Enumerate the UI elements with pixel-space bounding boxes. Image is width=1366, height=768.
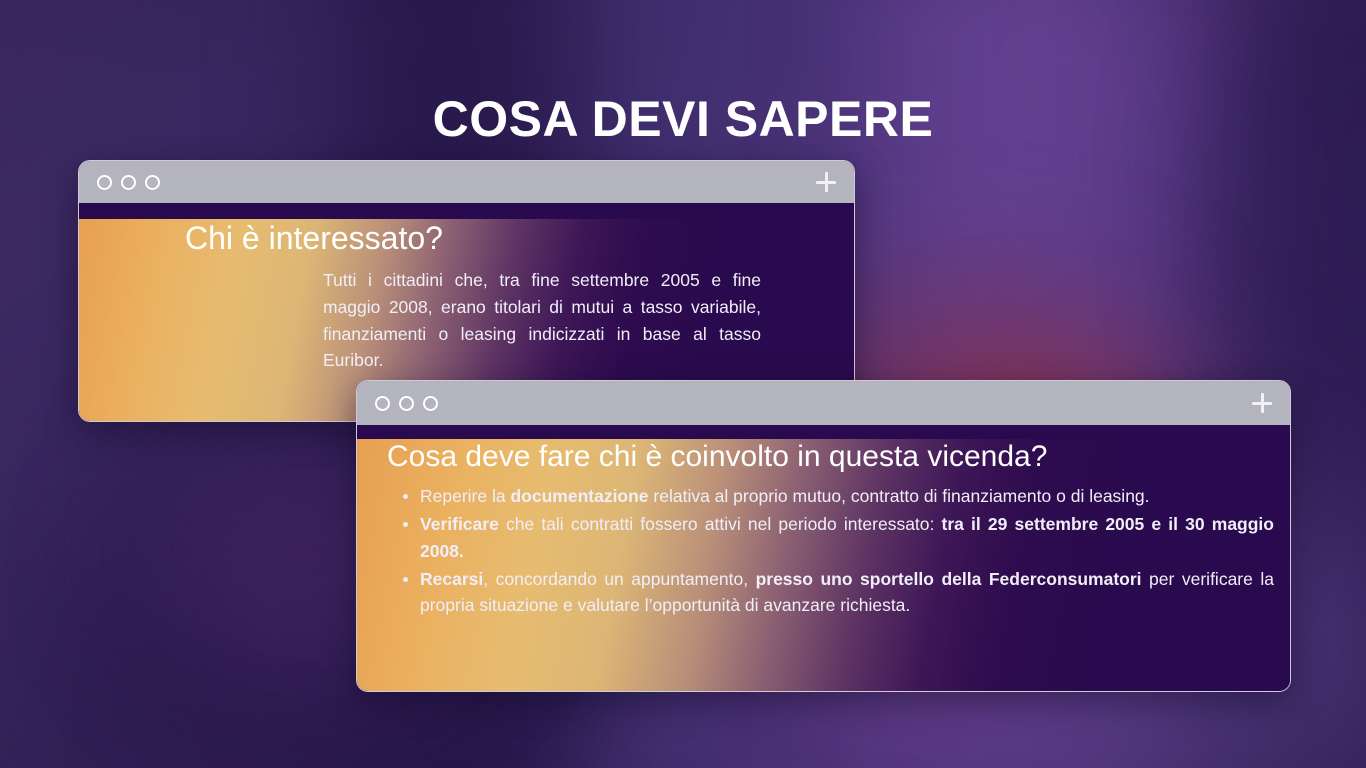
page-title: COSA DEVI SAPERE: [0, 92, 1366, 147]
list-item-text: che tali contratti fossero attivi nel pe…: [499, 514, 942, 534]
card-one-window-dots: [97, 175, 160, 190]
card-two-heading: Cosa deve fare chi è coinvolto in questa…: [387, 439, 1290, 475]
card-two-window-dots: [375, 396, 438, 411]
maximize-dot-icon[interactable]: [423, 396, 438, 411]
list-item-text: Reperire la: [420, 486, 510, 506]
card-two-body: Cosa deve fare chi è coinvolto in questa…: [357, 439, 1290, 692]
slide-canvas: COSA DEVI SAPERE Chi è interessato? Tutt…: [0, 0, 1366, 768]
minimize-dot-icon[interactable]: [399, 396, 414, 411]
card-one-heading: Chi è interessato?: [185, 219, 854, 257]
close-dot-icon[interactable]: [97, 175, 112, 190]
list-item-text: relativa al proprio mutuo, contratto di …: [649, 486, 1150, 506]
list-item: Reperire la documentazione relativa al p…: [403, 483, 1274, 509]
minimize-dot-icon[interactable]: [121, 175, 136, 190]
plus-icon[interactable]: [1252, 393, 1272, 413]
card-two-titlebar: [357, 381, 1290, 425]
close-dot-icon[interactable]: [375, 396, 390, 411]
card-one-content: Chi è interessato? Tutti i cittadini che…: [79, 219, 854, 374]
list-item-text: , concordando un appuntamento,: [483, 569, 755, 589]
card-one-titlebar: [79, 161, 854, 203]
card-two-bullet-list: Reperire la documentazione relativa al p…: [403, 483, 1274, 618]
list-item: Verificare che tali contratti fossero at…: [403, 511, 1274, 564]
card-one-paragraph: Tutti i cittadini che, tra fine settembr…: [323, 267, 761, 373]
maximize-dot-icon[interactable]: [145, 175, 160, 190]
list-item-emphasis: Verificare: [420, 514, 499, 534]
list-item-emphasis: presso uno sportello della Federconsumat…: [756, 569, 1142, 589]
info-card-cosa-deve-fare: Cosa deve fare chi è coinvolto in questa…: [356, 380, 1291, 692]
list-item-emphasis: Recarsi: [420, 569, 483, 589]
list-item-emphasis: documentazione: [510, 486, 648, 506]
card-two-content: Cosa deve fare chi è coinvolto in questa…: [357, 439, 1290, 618]
list-item: Recarsi, concordando un appuntamento, pr…: [403, 566, 1274, 619]
plus-icon[interactable]: [816, 172, 836, 192]
